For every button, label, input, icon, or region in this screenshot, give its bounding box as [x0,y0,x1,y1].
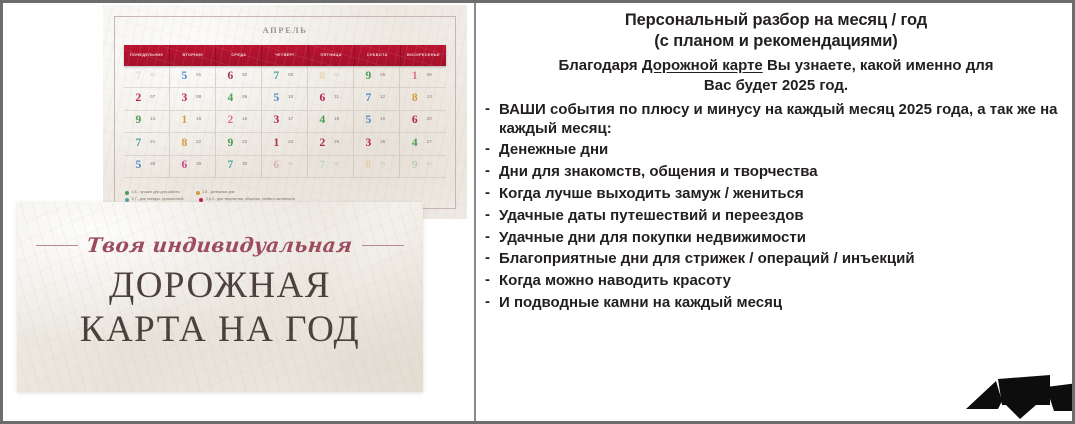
calendar-day-number: 20 [427,116,432,121]
bullet-dash-icon: - [485,250,492,265]
calendar-day-number: 17 [288,116,293,121]
calendar-day-energy-digit: 5 [136,160,142,172]
calendar-day-energy-digit: 7 [228,160,234,172]
bullet-dash-icon: - [485,101,492,116]
calendar-day-number: 24 [288,139,293,144]
calendar-day-number: 06 [427,72,432,77]
calendar-day-cell[interactable]: 601 [262,156,308,178]
benefit-list-item-text: И подводные камни на каждый месяц [499,294,1071,312]
calendar-day-cell[interactable]: 914 [124,111,170,133]
calendar-month-label: АПРЕЛЬ [103,25,467,35]
legend-color-dot-icon [125,191,129,195]
calendar-day-cell[interactable]: 124 [262,133,308,155]
roadmap-title-line1: ДОРОЖНАЯ [17,264,423,308]
calendar-weekday-3: ЧЕТВЕРГ [262,45,308,66]
calendar-day-cell[interactable]: 611 [308,88,354,110]
benefit-list-item: -И подводные камни на каждый месяц [481,294,1071,312]
calendar-day-number: 22 [196,139,201,144]
benefit-list-item-text: ВАШИ события по плюсу и минусу на каждый… [499,101,1071,138]
legend-color-dot-icon [199,198,203,202]
calendar-day-energy-digit: 5 [366,116,372,128]
benefit-list-item-text: Благоприятные дни для стрижек / операций… [499,250,1071,268]
calendar-day-number: 03 [288,72,293,77]
calendar-day-number: 25 [334,139,339,144]
right-title-line2: (с планом и рекомендациями) [481,31,1071,52]
bullet-dash-icon: - [485,272,492,287]
calendar-weekday-5: СУББОТА [355,45,401,66]
calendar-legend-row: 4,8 - лучшие дни для работы1,8 - денежны… [125,189,435,196]
benefit-list-item: -Дни для знакомств, общения и творчества [481,163,1071,181]
calendar-day-cell[interactable]: 813 [400,88,446,110]
calendar-day-energy-digit: 2 [136,93,142,105]
calendar-day-energy-digit: 8 [182,138,188,150]
calendar-day-number: 23 [242,139,247,144]
calendar-day-cell[interactable]: 803 [354,156,400,178]
calendar-day-number: 02 [334,161,339,166]
intro-line2: Вас будет 2025 год. [487,76,1065,96]
calendar-day-cell[interactable]: 510 [262,88,308,110]
calendar-day-number: 30 [242,161,247,166]
calendar-legend: 4,8 - лучшие дни для работы1,8 - денежны… [125,189,435,203]
calendar-day-energy-digit: 3 [182,93,188,105]
bullet-dash-icon: - [485,185,492,200]
calendar-day-number: 11 [334,94,339,99]
calendar-day-energy-digit: 2 [228,116,234,128]
calendar-weekday-1: ВТОРНИК [170,45,216,66]
calendar-day-number: 09 [242,94,247,99]
benefit-list-item-text: Когда можно наводить красоту [499,272,1071,290]
calendar-day-energy-digit: 8 [412,93,418,105]
calendar-day-number: 21 [150,139,155,144]
calendar-weekday-2: СРЕДА [216,45,262,66]
calendar-day-number: 15 [196,116,201,121]
calendar-day-cell[interactable]: 904 [400,156,446,178]
benefit-list-item-text: Удачные дни для покупки недвижимости [499,229,1071,247]
calendar-day-number: 13 [427,94,432,99]
calendar-day-number: 26 [380,139,385,144]
calendar-day-cell[interactable]: 731 [124,66,170,88]
calendar-day-number: 10 [288,94,293,99]
calendar-day-cell[interactable]: 317 [262,111,308,133]
roadmap-card: Твоя индивидуальная ДОРОЖНАЯ КАРТА НА ГО… [17,202,423,392]
calendar-day-cell[interactable]: 409 [216,88,262,110]
calendar-day-energy-digit: 9 [228,138,234,150]
benefit-list-item: -Когда лучше выходить замуж / жениться [481,185,1071,203]
legend-color-dot-icon [196,191,200,195]
roadmap-title-line2: КАРТА НА ГОД [17,308,423,352]
benefit-list-item: -Денежные дни [481,141,1071,159]
calendar-day-cell[interactable]: 427 [400,133,446,155]
intro-highlight: Дорожной карте [642,57,763,74]
benefit-list-item-text: Когда лучше выходить замуж / жениться [499,185,1071,203]
calendar-day-energy-digit: 8 [320,71,326,83]
roadmap-script-row: Твоя индивидуальная [17,233,423,257]
calendar-day-cell[interactable]: 905 [354,66,400,88]
benefit-list-item: -ВАШИ события по плюсу и минусу на кажды… [481,101,1071,138]
rule-left-icon [36,245,78,246]
benefit-list-item: -Благоприятные дни для стрижек / операци… [481,250,1071,268]
calendar-day-energy-digit: 7 [136,138,142,150]
right-panel-intro: Благодаря Дорожной карте Вы узнаете, как… [481,56,1071,95]
legend-color-dot-icon [125,198,129,202]
calendar-day-number: 01 [196,72,201,77]
bullet-dash-icon: - [485,207,492,222]
calendar-legend-item: 4,8 - лучшие дни для работы [125,189,180,196]
calendar-day-energy-digit: 1 [412,71,418,83]
calendar-weekday-4: ПЯТНИЦА [309,45,355,66]
roadmap-title: ДОРОЖНАЯ КАРТА НА ГОД [17,264,423,351]
calendar-legend-label: 4,8 - лучшие дни для работы [132,189,180,196]
calendar-day-number: 04 [334,72,339,77]
intro-before: Благодаря [558,57,637,74]
calendar-day-number: 01 [288,161,293,166]
calendar-day-energy-digit: 9 [136,116,142,128]
calendar-day-cell[interactable]: 721 [124,133,170,155]
calendar-day-energy-digit: 4 [228,93,234,105]
intro-line1: Благодаря Дорожной карте Вы узнаете, как… [487,56,1065,76]
calendar-day-number: 18 [334,116,339,121]
roadmap-script-text: Твоя индивидуальная [86,233,354,257]
calendar-day-energy-digit: 6 [274,160,280,172]
calendar-day-number: 03 [380,161,385,166]
calendar-day-energy-digit: 4 [412,138,418,150]
calendar-day-cell[interactable]: 602 [216,66,262,88]
calendar-day-cell[interactable]: 629 [170,156,216,178]
calendar-day-number: 05 [380,72,385,77]
calendar-day-cell[interactable]: 923 [216,133,262,155]
calendar-day-number: 28 [150,161,155,166]
bullet-dash-icon: - [485,229,492,244]
calendar-day-energy-digit: 2 [320,138,326,150]
calendar-day-number: 04 [427,161,432,166]
calendar-day-energy-digit: 4 [320,116,326,128]
calendar-day-cell[interactable]: 702 [308,156,354,178]
calendar-day-energy-digit: 6 [412,116,418,128]
benefit-list-item: -Удачные даты путешествий и переездов [481,207,1071,225]
calendar-day-cell[interactable]: 501 [170,66,216,88]
calendar-day-energy-digit: 7 [366,93,372,105]
benefit-list-item: -Удачные дни для покупки недвижимости [481,229,1071,247]
right-title-line1: Персональный разбор на месяц / год [481,10,1071,31]
calendar-day-number: 16 [242,116,247,121]
calendar-day-cell[interactable]: 519 [354,111,400,133]
calendar-day-cell[interactable]: 326 [354,133,400,155]
calendar-day-energy-digit: 6 [320,93,326,105]
calendar-day-energy-digit: 5 [274,93,280,105]
benefit-list-item-text: Дни для знакомств, общения и творчества [499,163,1071,181]
calendar-day-energy-digit: 5 [182,71,188,83]
benefit-list-item-text: Денежные дни [499,141,1071,159]
calendar-day-cell[interactable]: 822 [170,133,216,155]
calendar-day-cell[interactable]: 207 [124,88,170,110]
calendar-day-number: 31 [150,72,155,77]
calendar-day-cell[interactable]: 115 [170,111,216,133]
calendar-day-cell[interactable]: 528 [124,156,170,178]
calendar-day-cell[interactable]: 730 [216,156,262,178]
bullet-dash-icon: - [485,141,492,156]
rule-right-icon [362,245,404,246]
right-panel: Персональный разбор на месяц / год (с пл… [481,3,1071,421]
calendar-day-energy-digit: 3 [274,116,280,128]
calendar-day-cell[interactable]: 712 [354,88,400,110]
calendar-legend-label: 1,8 - денежные дни [202,189,234,196]
panel-divider [474,3,476,424]
angular-arrow-logo [958,361,1075,423]
calendar-day-number: 02 [242,72,247,77]
benefit-list-item: -Когда можно наводить красоту [481,272,1071,290]
calendar-day-energy-digit: 1 [274,138,280,150]
calendar-day-number: 19 [380,116,385,121]
calendar-day-cell[interactable]: 216 [216,111,262,133]
calendar-day-energy-digit: 7 [136,71,142,83]
calendar-day-cell[interactable]: 620 [400,111,446,133]
calendar-day-number: 29 [196,161,201,166]
calendar-day-cell[interactable]: 106 [400,66,446,88]
calendar-day-number: 08 [196,94,201,99]
calendar-day-energy-digit: 7 [274,71,280,83]
calendar-day-energy-digit: 1 [182,116,188,128]
calendar-day-energy-digit: 8 [366,160,372,172]
calendar-weekday-6: ВОСКРЕСЕНЬЕ [401,45,446,66]
calendar-day-cell[interactable]: 418 [308,111,354,133]
calendar-day-cell[interactable]: 225 [308,133,354,155]
calendar-day-number: 27 [427,139,432,144]
calendar-day-cell[interactable]: 804 [308,66,354,88]
intro-after: Вы узнаете, какой именно для [767,57,994,74]
calendar-weekday-header: ПОНЕДЕЛЬНИКВТОРНИКСРЕДАЧЕТВЕРГПЯТНИЦАСУБ… [124,45,446,66]
calendar-day-energy-digit: 7 [320,160,326,172]
calendar-day-energy-digit: 6 [182,160,188,172]
bullet-dash-icon: - [485,294,492,309]
benefits-list: -ВАШИ события по плюсу и минусу на кажды… [481,101,1071,312]
calendar-sheet: АПРЕЛЬ ПОНЕДЕЛЬНИКВТОРНИКСРЕДАЧЕТВЕРГПЯТ… [103,5,467,219]
calendar-day-energy-digit: 6 [228,71,234,83]
calendar-day-number: 14 [150,116,155,121]
calendar-day-cell[interactable]: 703 [262,66,308,88]
calendar-day-energy-digit: 9 [366,71,372,83]
calendar-weekday-0: ПОНЕДЕЛЬНИК [124,45,170,66]
calendar-grid: 7315016027038049051062073084095106117128… [124,66,446,178]
right-panel-title: Персональный разбор на месяц / год (с пл… [481,10,1071,52]
calendar-day-energy-digit: 3 [366,138,372,150]
benefit-list-item-text: Удачные даты путешествий и переездов [499,207,1071,225]
calendar-day-energy-digit: 9 [412,160,418,172]
calendar-day-number: 12 [380,94,385,99]
bullet-dash-icon: - [485,163,492,178]
slide-root: АПРЕЛЬ ПОНЕДЕЛЬНИКВТОРНИКСРЕДАЧЕТВЕРГПЯТ… [0,0,1075,424]
calendar-day-number: 07 [150,94,155,99]
calendar-day-cell[interactable]: 308 [170,88,216,110]
calendar-legend-item: 1,8 - денежные дни [196,189,235,196]
